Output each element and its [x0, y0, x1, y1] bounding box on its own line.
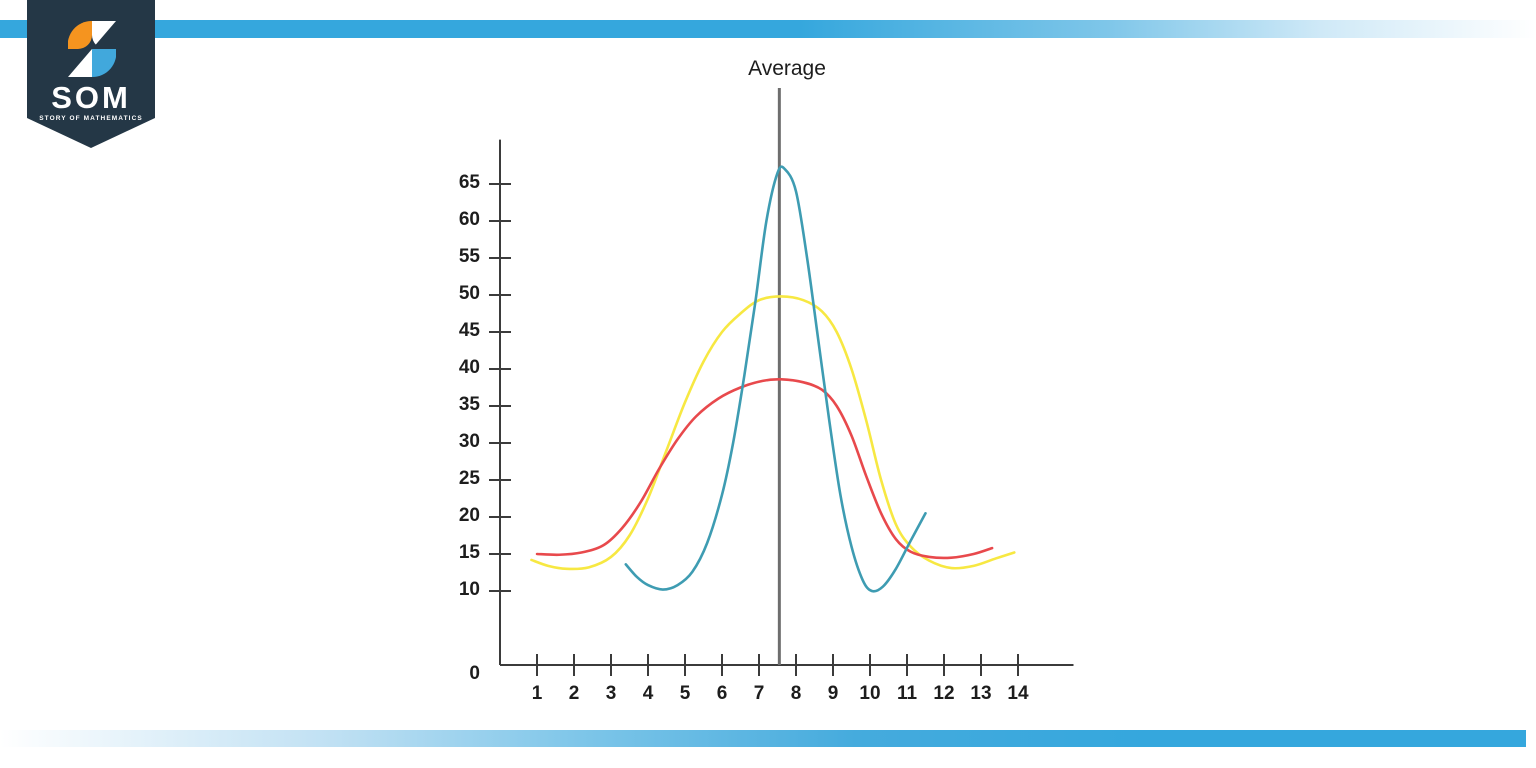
- y-tick-label: 30: [430, 431, 480, 453]
- y-tick-label: 50: [430, 283, 480, 305]
- y-tick-label: 45: [430, 320, 480, 342]
- y-tick-label: 60: [430, 209, 480, 231]
- x-tick-label: 14: [993, 683, 1043, 705]
- yellow-curve: [531, 296, 1014, 568]
- y-tick-label: 35: [430, 394, 480, 416]
- red-curve: [537, 379, 992, 558]
- y-tick-label: 55: [430, 246, 480, 268]
- y-tick-label: 25: [430, 468, 480, 490]
- y-tick-label: 40: [430, 357, 480, 379]
- chart-plot-area: [0, 0, 1536, 768]
- y-tick-label: 65: [430, 172, 480, 194]
- origin-label: 0: [430, 663, 480, 685]
- y-tick-label: 15: [430, 542, 480, 564]
- y-tick-label: 20: [430, 505, 480, 527]
- chart-container: Average 65605550454035302520151001234567…: [0, 0, 1536, 768]
- y-tick-label: 10: [430, 579, 480, 601]
